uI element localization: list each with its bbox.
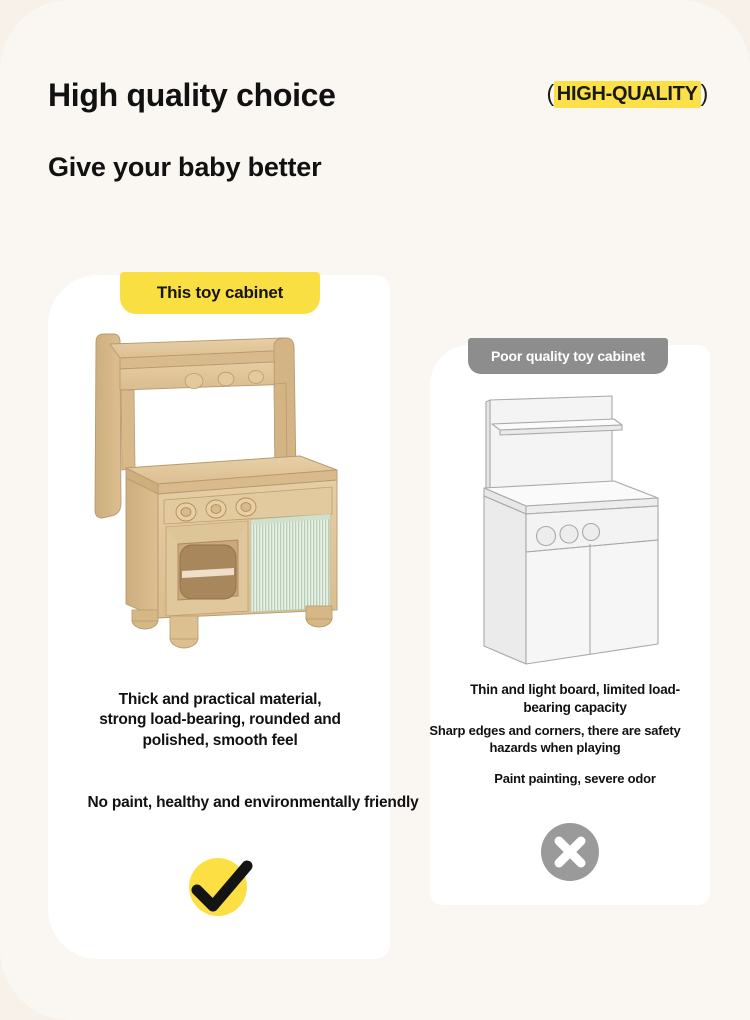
good-feature-2: No paint, healthy and environmentally fr… bbox=[48, 793, 458, 813]
line-drawing-cabinet-image bbox=[462, 392, 678, 670]
bad-card-tab-label: Poor quality toy cabinet bbox=[491, 348, 645, 364]
badge-open-paren: ( bbox=[546, 80, 553, 106]
wooden-play-kitchen-image bbox=[88, 328, 348, 658]
bad-drawback-2: Sharp edges and corners, there are safet… bbox=[405, 722, 705, 756]
bad-drawback-3: Paint painting, severe odor bbox=[455, 770, 695, 787]
badge-label: HIGH-QUALITY bbox=[554, 81, 701, 108]
high-quality-badge: (HIGH-QUALITY) bbox=[546, 80, 708, 107]
badge-close-paren: ) bbox=[701, 80, 708, 106]
header: High quality choice Give your baby bette… bbox=[48, 78, 708, 113]
bad-drawback-1: Thin and light board, limited load-beari… bbox=[455, 681, 695, 717]
page-title-line2: Give your baby better bbox=[48, 153, 321, 183]
good-card-tab-label: This toy cabinet bbox=[157, 283, 283, 303]
bad-card-tab: Poor quality toy cabinet bbox=[468, 338, 668, 374]
check-mark-icon bbox=[185, 852, 257, 924]
cross-mark-icon bbox=[541, 823, 599, 881]
good-card-tab: This toy cabinet bbox=[120, 272, 320, 314]
good-feature-1: Thick and practical material, strong loa… bbox=[95, 690, 345, 751]
